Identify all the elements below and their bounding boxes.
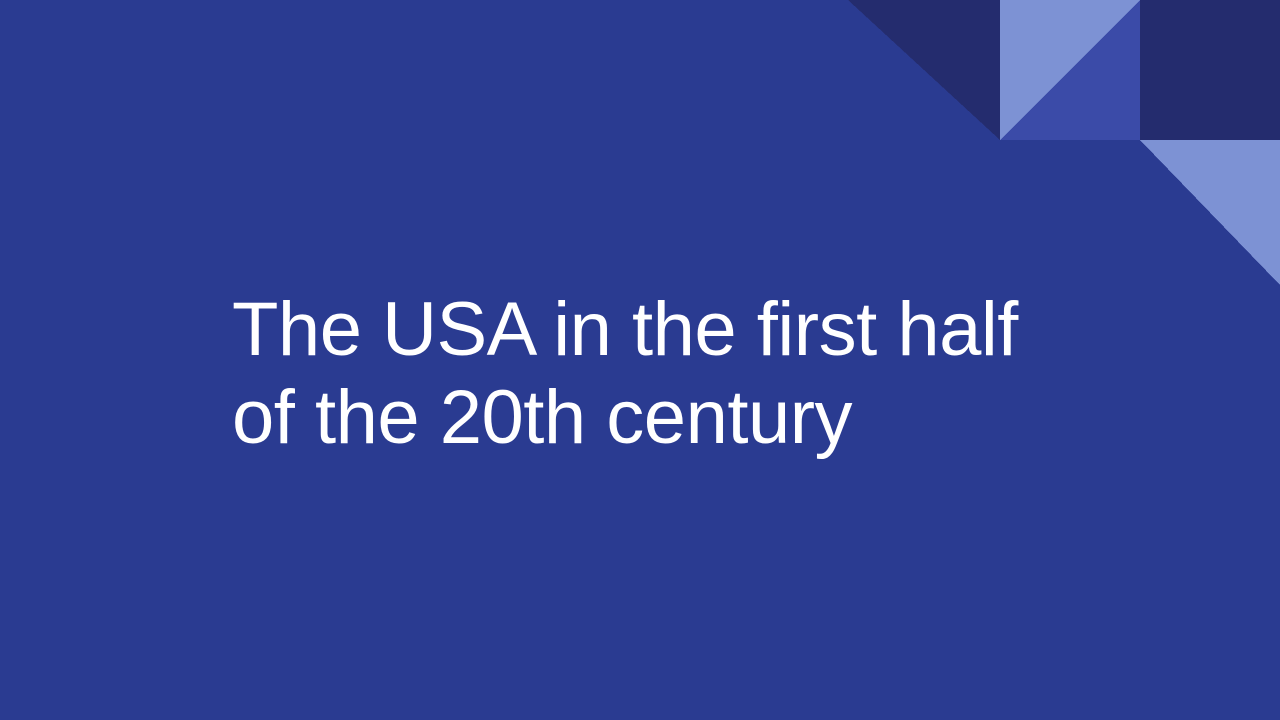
title-block: The USA in the first half of the 20th ce… <box>232 286 1052 462</box>
dark-navy-right-block-shape <box>1140 0 1280 140</box>
page-title: The USA in the first half of the 20th ce… <box>232 286 1052 462</box>
light-blue-lower-right-triangle-shape <box>1140 140 1280 285</box>
medium-blue-square-lower-triangle-shape <box>1000 0 1140 140</box>
title-slide: The USA in the first half of the 20th ce… <box>0 0 1280 720</box>
dark-navy-upper-left-triangle-shape <box>848 0 1000 140</box>
light-blue-square-upper-triangle-shape <box>1000 0 1140 140</box>
